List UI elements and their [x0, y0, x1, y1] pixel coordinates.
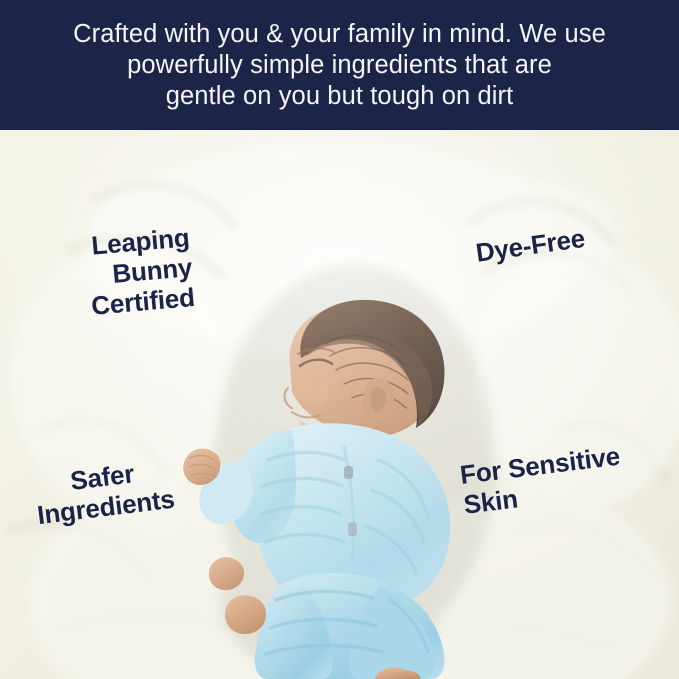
baby-photo [0, 130, 679, 679]
product-feature-banner: Crafted with you & your family in mind. … [0, 0, 679, 679]
headline-band: Crafted with you & your family in mind. … [0, 0, 679, 130]
baby-photo-illustration [0, 130, 679, 679]
feature-label-leaping-bunny-certified: Leaping Bunny Certified [33, 222, 196, 325]
headline-text: Crafted with you & your family in mind. … [20, 19, 660, 112]
